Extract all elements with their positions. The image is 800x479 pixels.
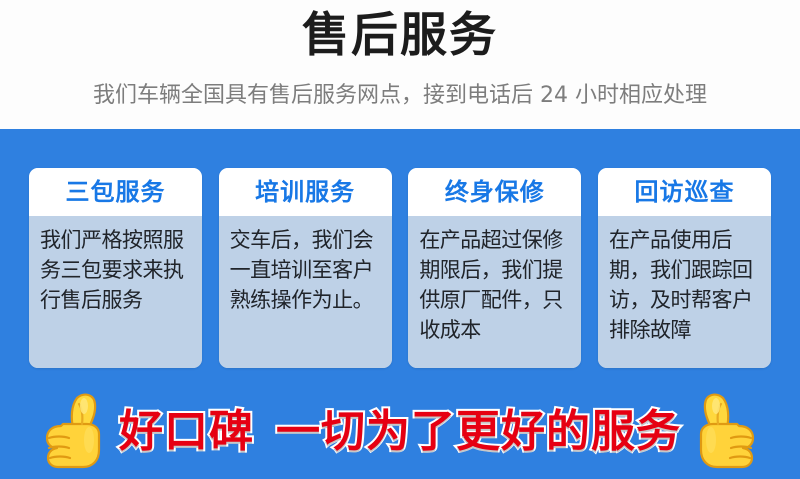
card-body: 在产品使用后期，我们跟踪回访，及时帮客户排除故障 xyxy=(598,216,771,368)
card-description: 在产品使用后期，我们跟踪回访，及时帮客户排除故障 xyxy=(609,225,760,345)
banner-header: 售后服务 我们车辆全国具有售后服务网点，接到电话后 24 小时相应处理 xyxy=(0,0,800,129)
slogan-text-group: 好口碑 一切为了更好的服务 xyxy=(113,403,687,461)
card-body: 在产品超过保修期限后，我们提供原厂配件，只收成本 xyxy=(408,216,581,368)
service-card-follow-up[interactable]: 回访巡查 在产品使用后期，我们跟踪回访，及时帮客户排除故障 xyxy=(598,168,771,368)
card-body: 交车后，我们会一直培训至客户熟练操作为止。 xyxy=(219,216,392,368)
card-description: 我们严格按照服务三包要求来执行售后服务 xyxy=(40,225,191,315)
card-title: 回访巡查 xyxy=(634,178,734,206)
service-card-training[interactable]: 培训服务 交车后，我们会一直培训至客户熟练操作为止。 xyxy=(219,168,392,368)
slogan-part-1: 好口碑 xyxy=(119,403,254,461)
after-sales-service-banner: 售后服务 我们车辆全国具有售后服务网点，接到电话后 24 小时相应处理 三包服务… xyxy=(0,0,800,479)
card-title: 终身保修 xyxy=(445,178,545,206)
card-title: 培训服务 xyxy=(255,178,355,206)
page-subtitle: 我们车辆全国具有售后服务网点，接到电话后 24 小时相应处理 xyxy=(0,80,800,112)
service-card-row: 三包服务 我们严格按照服务三包要求来执行售后服务 培训服务 交车后，我们会一直培… xyxy=(29,168,771,368)
card-body: 我们严格按照服务三包要求来执行售后服务 xyxy=(29,216,202,368)
card-description: 交车后，我们会一直培训至客户熟练操作为止。 xyxy=(230,225,381,315)
card-header: 三包服务 xyxy=(29,168,202,216)
card-header: 培训服务 xyxy=(219,168,392,216)
thumbs-up-icon xyxy=(39,388,113,476)
slogan-bar: 好口碑 一切为了更好的服务 xyxy=(0,385,800,479)
service-card-sanbao[interactable]: 三包服务 我们严格按照服务三包要求来执行售后服务 xyxy=(29,168,202,368)
service-card-lifetime-warranty[interactable]: 终身保修 在产品超过保修期限后，我们提供原厂配件，只收成本 xyxy=(408,168,581,368)
thumbs-up-icon xyxy=(687,388,761,476)
page-title: 售后服务 xyxy=(0,6,800,66)
slogan-part-2: 一切为了更好的服务 xyxy=(276,403,681,461)
card-header: 回访巡查 xyxy=(598,168,771,216)
blue-content-area: 三包服务 我们严格按照服务三包要求来执行售后服务 培训服务 交车后，我们会一直培… xyxy=(0,129,800,479)
card-description: 在产品超过保修期限后，我们提供原厂配件，只收成本 xyxy=(419,225,570,345)
card-title: 三包服务 xyxy=(66,178,166,206)
card-header: 终身保修 xyxy=(408,168,581,216)
